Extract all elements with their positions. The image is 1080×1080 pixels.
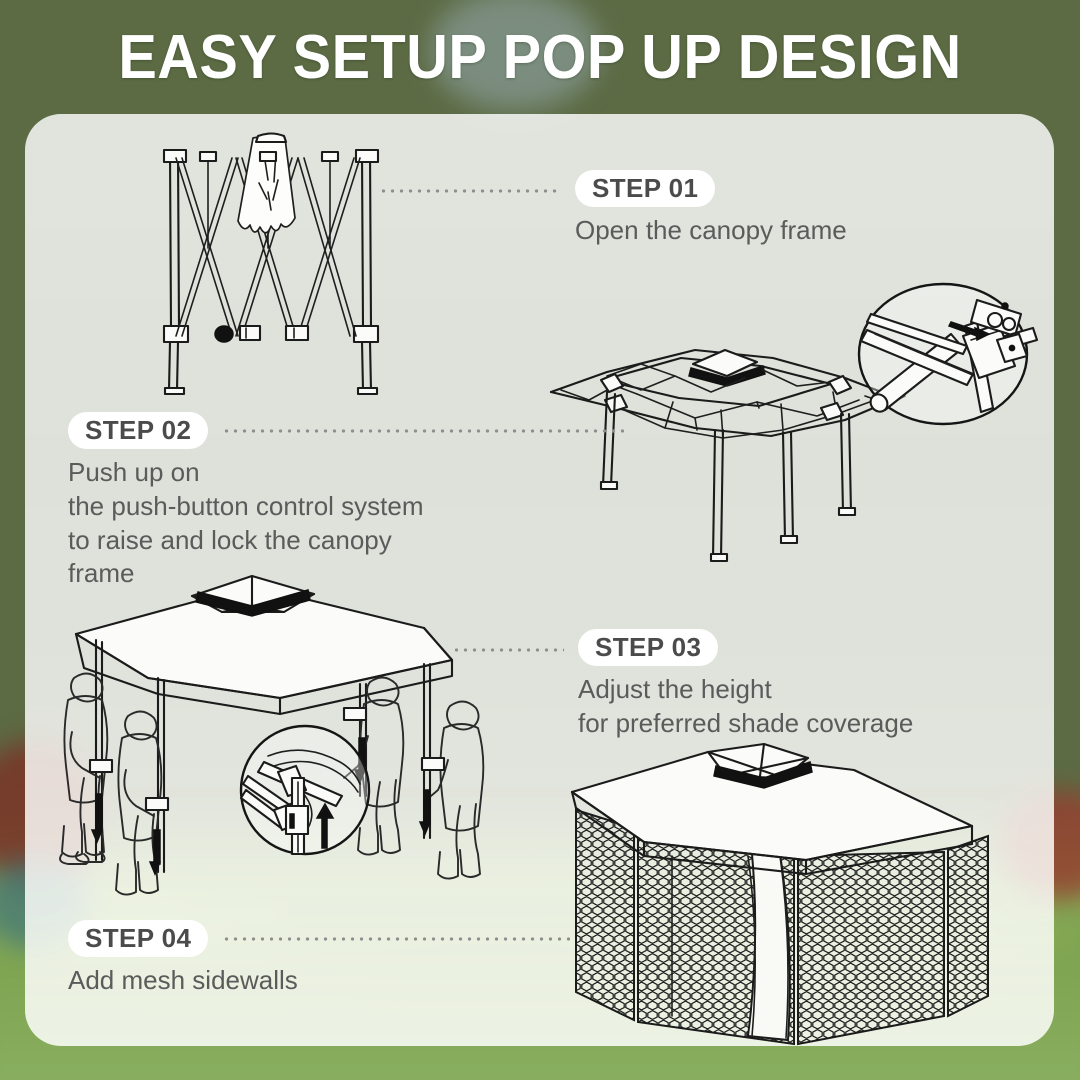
illustration-push-button-detail-circle — [855, 278, 1031, 430]
leader-dots-step-04 — [222, 937, 570, 941]
leader-dots-step-03 — [452, 648, 564, 652]
leader-dots-step-01 — [379, 189, 561, 193]
leader-dots-step-02 — [222, 429, 627, 433]
step-01-badge: STEP 01 — [575, 170, 715, 207]
step-02-badge: STEP 02 — [68, 412, 208, 449]
illustration-leg-adjust-detail-circle — [238, 718, 372, 862]
illustration-collapsed-canopy-frame — [140, 128, 402, 400]
step-04-caption: STEP 04 Add mesh sidewalls — [68, 920, 570, 998]
step-02-caption: STEP 02 Push up on the push-button contr… — [68, 412, 627, 591]
step-04-text: Add mesh sidewalls — [68, 964, 570, 998]
step-03-header: STEP 03 — [578, 629, 913, 666]
step-03-caption: STEP 03 Adjust the height for preferred … — [578, 629, 913, 741]
step-01-caption: STEP 01 Open the canopy frame — [575, 170, 847, 248]
illustration-gazebo-mesh-sidewalls — [548, 744, 1018, 1056]
infographic-stage: EASY SETUP POP UP DESIGN — [0, 0, 1080, 1080]
step-03-text: Adjust the height for preferred shade co… — [578, 673, 913, 741]
page-title: EASY SETUP POP UP DESIGN — [38, 22, 1042, 93]
step-04-header: STEP 04 — [68, 920, 570, 957]
step-04-badge: STEP 04 — [68, 920, 208, 957]
step-01-text: Open the canopy frame — [575, 214, 847, 248]
step-01-header: STEP 01 — [575, 170, 847, 207]
step-02-text: Push up on the push-button control syste… — [68, 456, 627, 591]
step-03-badge: STEP 03 — [578, 629, 718, 666]
step-02-header: STEP 02 — [68, 412, 627, 449]
